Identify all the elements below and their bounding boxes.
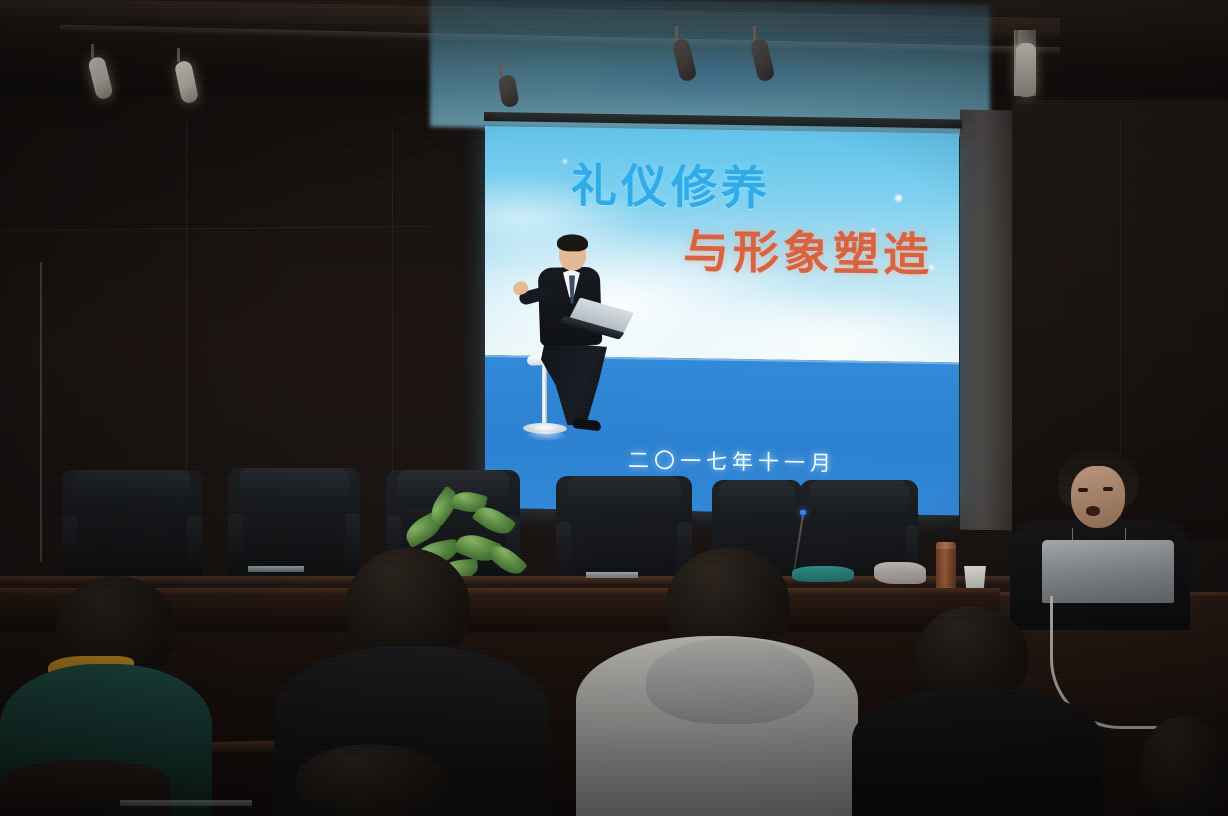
stage-chair-2 (228, 468, 360, 576)
presenter-eye-right (1103, 487, 1113, 491)
chair-headrest (567, 476, 681, 513)
chair-armrest-left (556, 522, 571, 577)
slide-businessman-hair (557, 234, 588, 251)
slide-title-sub: 与形象塑造 (683, 215, 933, 285)
track-light-stem (177, 48, 180, 62)
track-light-stem (499, 62, 502, 76)
chair-armrest-left (228, 513, 243, 567)
attendee-right-body (852, 688, 1102, 816)
slide-title-main: 礼仪修养 (571, 149, 771, 218)
chair-armrest-right (187, 515, 202, 568)
attendee-hoodie-hood (646, 638, 814, 724)
chair-headrest (809, 480, 908, 517)
stage-table-edge (0, 576, 1010, 583)
track-light-head (1016, 43, 1036, 97)
wall-column-right (960, 110, 1014, 531)
stage-chair-1 (62, 470, 202, 576)
slide-date-text: 二〇一七年十一月 (628, 444, 836, 477)
chair-armrest-right (345, 513, 360, 567)
apple-logo-icon (1098, 562, 1120, 586)
presenter-eye-left (1078, 488, 1088, 492)
teal-cloth (792, 566, 854, 582)
stage-chair-4 (556, 476, 692, 586)
flag-pole (40, 262, 42, 562)
chair-headrest (239, 468, 350, 505)
attendee-front-left-head (296, 744, 446, 816)
chair-headrest (719, 480, 795, 517)
name-plate (586, 572, 638, 578)
name-plate (248, 566, 304, 572)
lecture-hall-scene: 礼仪修养 与形象塑造 二〇一七年十一月 (0, 0, 1228, 816)
presenter-mouth (1086, 506, 1100, 516)
chair-headrest (73, 470, 191, 506)
slide-businessman-shoe (573, 418, 602, 431)
attendee-front-far-left-body (0, 760, 170, 816)
thermos-cap (936, 542, 956, 549)
track-light-stem (1015, 30, 1018, 44)
slide-stool-reflection (525, 432, 567, 442)
slide-stool-post (542, 363, 547, 427)
slide-businessman-figure (515, 236, 635, 443)
projection-screen: 礼仪修养 与形象塑造 二〇一七年十一月 (485, 126, 959, 515)
slide-businessman-legs (541, 341, 607, 426)
slide-sparkle-4 (563, 159, 567, 163)
track-light-stem (675, 26, 678, 40)
thermos-flask (936, 546, 956, 590)
microphone-led-indicator (800, 510, 806, 515)
white-cloth (874, 562, 926, 584)
track-light-stem (753, 26, 756, 40)
wall-reflected-banner-glow (560, 50, 860, 106)
track-light-stem (91, 44, 94, 58)
foreground-desk-edge (120, 800, 252, 806)
slide-sparkle-1 (895, 194, 902, 201)
attendee-far-right-head (1140, 716, 1228, 816)
presenter-face (1071, 466, 1125, 528)
chair-armrest-left (62, 515, 77, 568)
